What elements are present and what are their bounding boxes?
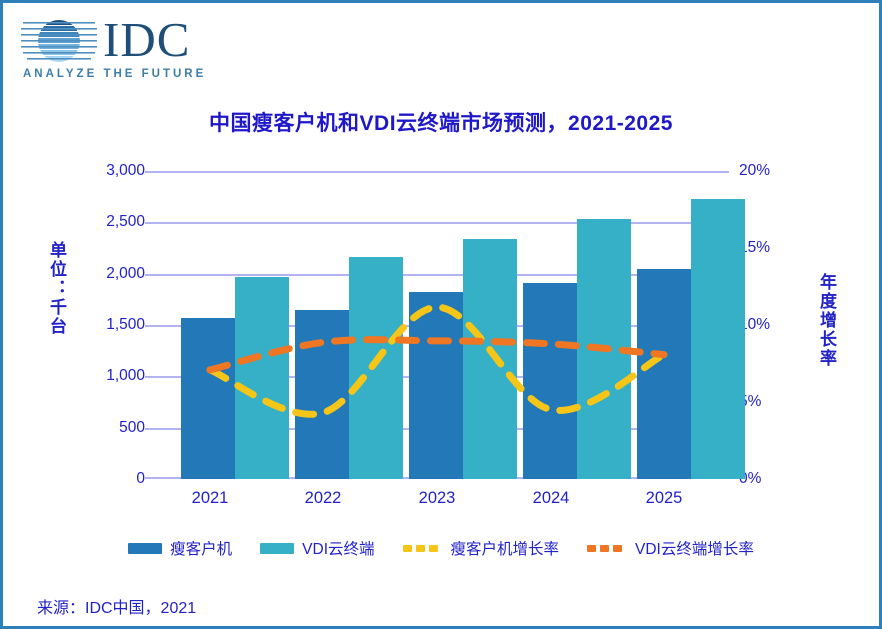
- tick-mark-left: [145, 325, 153, 327]
- x-axis-tick-2021: 2021: [165, 489, 255, 508]
- tick-mark-right: [721, 171, 729, 173]
- growth-rate-lines: [153, 171, 721, 479]
- tick-mark-left: [145, 477, 153, 479]
- legend-swatch-dash-icon: [587, 545, 627, 552]
- logo-wordmark: IDC: [103, 11, 190, 69]
- right-axis-tick-20pct: 20%: [739, 162, 795, 180]
- legend-swatch-bar-icon: [128, 543, 162, 554]
- left-axis-tick-0: 0: [83, 470, 145, 488]
- tick-mark-left: [145, 222, 153, 224]
- legend-swatch-bar-icon: [260, 543, 294, 554]
- legend-vdi-cloud[interactable]: VDI云终端: [260, 537, 374, 559]
- legend-thin-client[interactable]: 瘦客户机: [128, 537, 232, 559]
- chart-title: 中国瘦客户机和VDI云终端市场预测，2021-2025: [3, 107, 879, 137]
- legend-label: 瘦客户机增长率: [451, 537, 560, 559]
- idc-logo: IDC ANALYZE THE FUTURE: [21, 13, 221, 83]
- tick-mark-left: [145, 428, 153, 430]
- right-axis-tick-5pct: 5%: [739, 393, 795, 411]
- left-axis-tick-1000: 1,000: [83, 367, 145, 385]
- plot-area: [153, 171, 721, 479]
- logo-tagline: ANALYZE THE FUTURE: [23, 68, 206, 80]
- tick-mark-left: [145, 376, 153, 378]
- x-axis-tick-2023: 2023: [392, 489, 482, 508]
- left-axis-tick-2000: 2,000: [83, 265, 145, 283]
- legend-label: VDI云终端: [302, 537, 374, 559]
- x-axis-tick-2022: 2022: [278, 489, 368, 508]
- chart-legend: 瘦客户机 VDI云终端 瘦客户机增长率 VDI云终端增长率: [3, 537, 879, 559]
- left-axis-labels: 3,000 2,500 2,000 1,500 1,000 500 0: [83, 171, 145, 479]
- line-thin-client-growth: [210, 307, 664, 414]
- legend-thin-client-growth[interactable]: 瘦客户机增长率: [403, 537, 560, 559]
- left-axis-tick-3000: 3,000: [83, 162, 145, 180]
- tick-mark-left: [145, 171, 153, 173]
- source-note: 来源：IDC中国，2021: [37, 594, 196, 618]
- legend-vdi-cloud-growth[interactable]: VDI云终端增长率: [587, 537, 754, 559]
- right-axis-tick-15pct: 15%: [739, 239, 795, 257]
- right-axis-tick-10pct: 10%: [739, 316, 795, 334]
- legend-swatch-dash-icon: [403, 545, 443, 552]
- idc-sphere-icon: [21, 15, 97, 67]
- x-axis-tick-2024: 2024: [506, 489, 596, 508]
- line-vdi-cloud-growth: [210, 340, 664, 370]
- right-axis-labels: 20% 15% 10% 5% 0%: [739, 171, 795, 479]
- x-axis-labels: 2021 2022 2023 2024 2025: [153, 489, 721, 517]
- legend-label: VDI云终端增长率: [635, 537, 754, 559]
- chart-figure: IDC ANALYZE THE FUTURE 中国瘦客户机和VDI云终端市场预测…: [0, 0, 882, 629]
- legend-label: 瘦客户机: [170, 537, 232, 559]
- left-axis-tick-2500: 2,500: [83, 213, 145, 231]
- x-axis-tick-2025: 2025: [619, 489, 709, 508]
- right-axis-title: 年度增长率: [809, 273, 839, 368]
- left-axis-tick-500: 500: [83, 419, 145, 437]
- right-axis-tick-0pct: 0%: [739, 470, 795, 488]
- left-axis-title: 单位：千台: [39, 241, 69, 336]
- tick-mark-left: [145, 274, 153, 276]
- left-axis-tick-1500: 1,500: [83, 316, 145, 334]
